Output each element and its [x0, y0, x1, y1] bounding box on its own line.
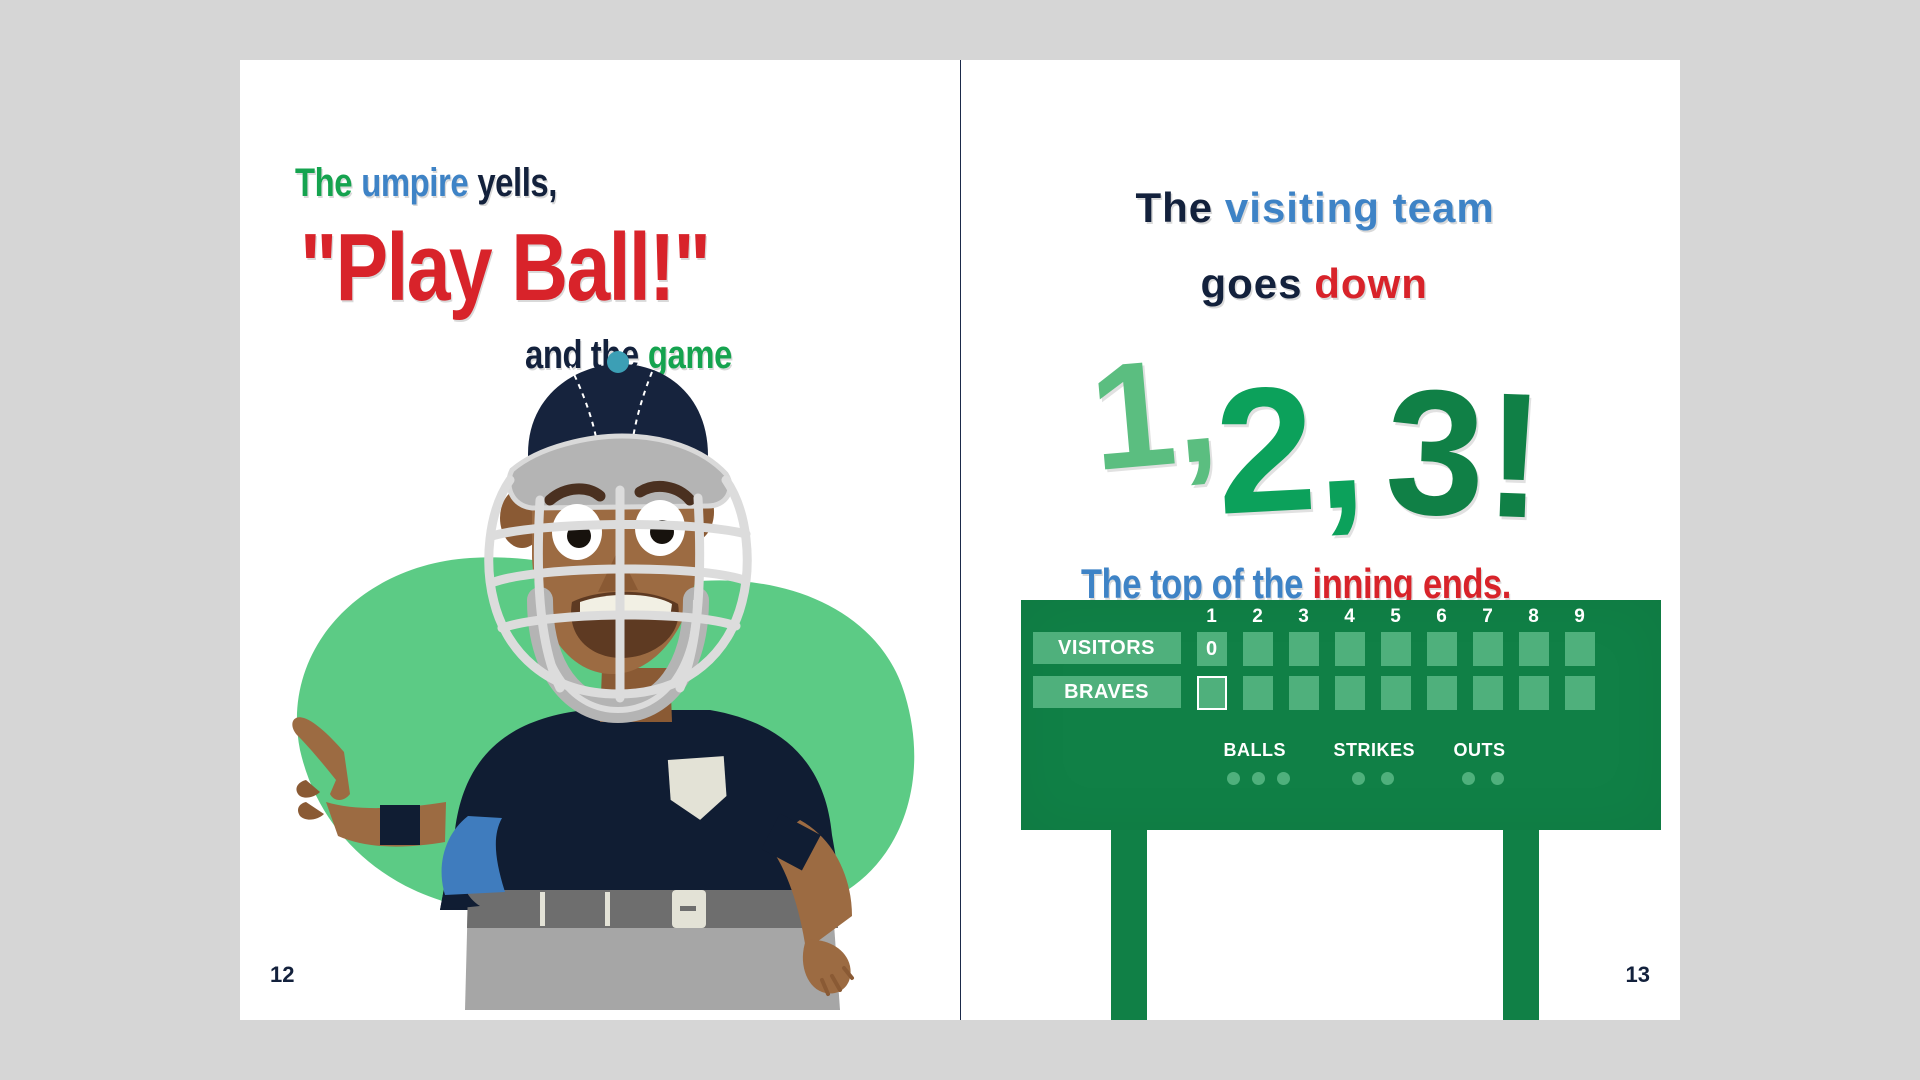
left-line1-word-the: The: [295, 161, 352, 205]
right-line2-word-down: down: [1314, 260, 1428, 307]
right-line1-word-the: The: [1136, 184, 1214, 231]
page-number-left: 12: [270, 962, 294, 988]
scoreboard-panel: 1 2 3 4 5 6 7 8 9 VISITORS BRAVES 0: [1021, 600, 1661, 830]
count-label-balls: BALLS: [1224, 740, 1287, 761]
inning-header-2: 2: [1243, 606, 1273, 628]
score-cell-braves-1[interactable]: [1197, 676, 1227, 710]
score-cell-braves-9[interactable]: [1565, 676, 1595, 710]
score-cell-visitors-8[interactable]: [1519, 632, 1549, 666]
inning-header-5: 5: [1381, 606, 1411, 628]
left-line1-word-umpire: umpire: [361, 161, 468, 205]
score-cell-braves-2[interactable]: [1243, 676, 1273, 710]
buckle-slot: [680, 906, 696, 911]
outs-dot-2[interactable]: [1491, 772, 1504, 785]
inning-header-8: 8: [1519, 606, 1549, 628]
inning-header-1: 1: [1197, 606, 1227, 628]
inning-header-9: 9: [1565, 606, 1595, 628]
inning-header-7: 7: [1473, 606, 1503, 628]
big-number-three: 3!: [1382, 362, 1546, 545]
balls-dot-1[interactable]: [1227, 772, 1240, 785]
big-number-one: 1,: [1084, 333, 1222, 493]
score-cell-visitors-6[interactable]: [1427, 632, 1457, 666]
hand-knuckle: [298, 802, 324, 820]
strikes-dot-1[interactable]: [1352, 772, 1365, 785]
inning-header-6: 6: [1427, 606, 1457, 628]
umpire-illustration: [240, 350, 960, 1020]
scoreboard-leg-left: [1111, 830, 1147, 1020]
score-cell-braves-4[interactable]: [1335, 676, 1365, 710]
score-cell-visitors-9[interactable]: [1565, 632, 1595, 666]
score-cell-visitors-4[interactable]: [1335, 632, 1365, 666]
belt-loop: [540, 892, 545, 926]
right-page: Thevisiting team goesdown 1, 2, 3! The t…: [960, 60, 1681, 1020]
scoreboard-leg-right: [1503, 830, 1539, 1020]
team-label-braves: BRAVES: [1033, 676, 1181, 708]
inning-header-4: 4: [1335, 606, 1365, 628]
right-line1-words-visiting-team: visiting team: [1225, 184, 1495, 231]
umpire-armband: [380, 805, 420, 845]
left-text-line-1: Theumpireyells,: [295, 163, 557, 203]
balls-dot-2[interactable]: [1252, 772, 1265, 785]
baseball-scoreboard: 1 2 3 4 5 6 7 8 9 VISITORS BRAVES 0: [1021, 600, 1661, 1020]
right-text-line-2: goesdown: [1201, 263, 1428, 305]
belt-loop: [605, 892, 610, 926]
right-line2-word-goes: goes: [1201, 260, 1303, 307]
umpire-belt: [467, 890, 838, 928]
score-cell-braves-8[interactable]: [1519, 676, 1549, 710]
outs-dot-1[interactable]: [1462, 772, 1475, 785]
count-label-outs: OUTS: [1454, 740, 1506, 761]
cap-button: [607, 351, 629, 373]
balls-dot-3[interactable]: [1277, 772, 1290, 785]
inning-header-3: 3: [1289, 606, 1319, 628]
big-number-two: 2,: [1211, 356, 1369, 542]
strikes-dot-2[interactable]: [1381, 772, 1394, 785]
book-spread: Theumpireyells, "Play Ball!" and thegame…: [240, 60, 1680, 1020]
score-cell-braves-3[interactable]: [1289, 676, 1319, 710]
score-cell-braves-6[interactable]: [1427, 676, 1457, 710]
score-cell-visitors-2[interactable]: [1243, 632, 1273, 666]
left-line1-word-yells: yells,: [477, 161, 557, 205]
page-number-right: 13: [1626, 962, 1650, 988]
score-cell-braves-5[interactable]: [1381, 676, 1411, 710]
right-text-line-1: Thevisiting team: [1136, 187, 1495, 229]
left-text-play-ball: "Play Ball!": [300, 220, 709, 316]
score-cell-braves-7[interactable]: [1473, 676, 1503, 710]
score-cell-visitors-1[interactable]: 0: [1197, 632, 1227, 666]
score-cell-visitors-7[interactable]: [1473, 632, 1503, 666]
count-label-strikes: STRIKES: [1334, 740, 1416, 761]
team-label-visitors: VISITORS: [1033, 632, 1181, 664]
score-cell-visitors-5[interactable]: [1381, 632, 1411, 666]
right-text-line-3: The top of theinningends.: [1081, 563, 1511, 605]
score-cell-visitors-3[interactable]: [1289, 632, 1319, 666]
left-page: Theumpireyells, "Play Ball!" and thegame…: [240, 60, 960, 1020]
